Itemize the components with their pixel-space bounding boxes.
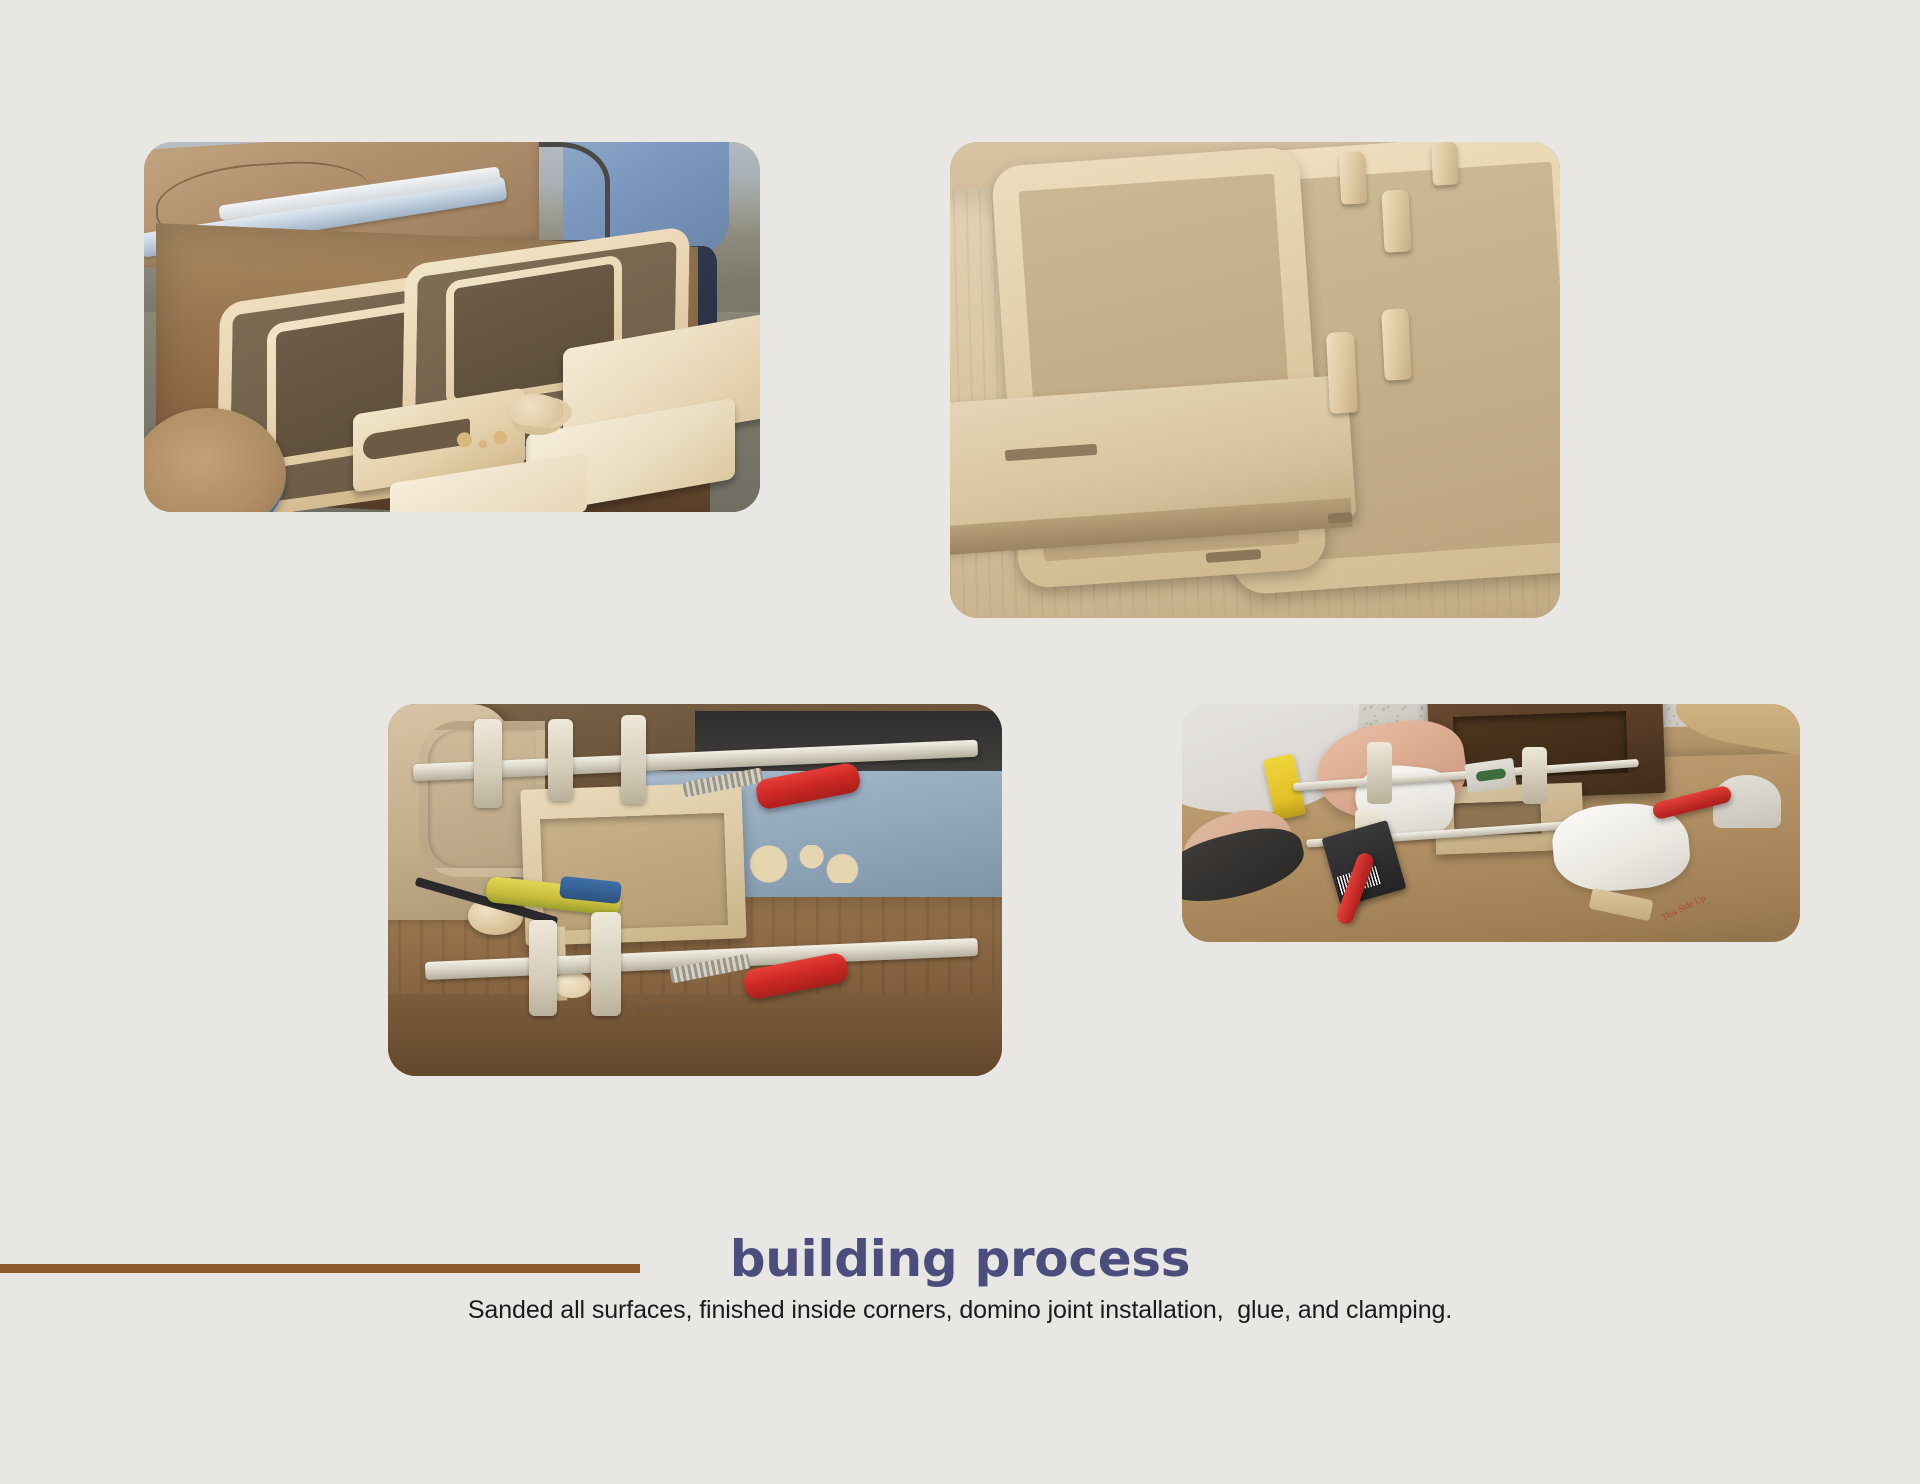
photo4-clamp-jaw-2 [1522,747,1547,804]
photo2-dowel-3 [1381,189,1411,252]
photo3-clamp-jaw-4 [591,912,622,1016]
photo1-dowel-stack [507,394,562,427]
photo3-box-opening [540,812,728,930]
page-title: building process [0,1230,1920,1288]
photo3-clamp-jaw-2 [548,719,574,801]
photo-glue-up: This Side Up [1182,704,1800,942]
photo3-wood-shavings [744,845,867,882]
photo2-dowel-2 [1431,142,1459,185]
photo-frames-closeup [950,142,1560,618]
photo-clamping-bench: SHOP FOX [388,704,1002,1076]
photo-parts-on-bench [144,142,760,512]
photo2-dowel-5 [1381,308,1412,381]
photo3-clamp-jaw-1 [474,719,502,808]
photo3-clamp-jaw-5 [529,920,557,1017]
photo2-dowel-4 [1326,332,1358,414]
photo2-dowel-1 [1339,151,1367,205]
page-subtitle: Sanded all surfaces, finished inside cor… [0,1296,1920,1325]
slide-canvas: SHOP FOX This Side Up buildin [0,0,1920,1484]
photo4-clamp-jaw-1 [1367,742,1392,804]
photo1-wood-chips [452,431,514,453]
photo3-clamp-jaw-3 [621,715,646,804]
photo3-dowel-small [554,972,591,998]
